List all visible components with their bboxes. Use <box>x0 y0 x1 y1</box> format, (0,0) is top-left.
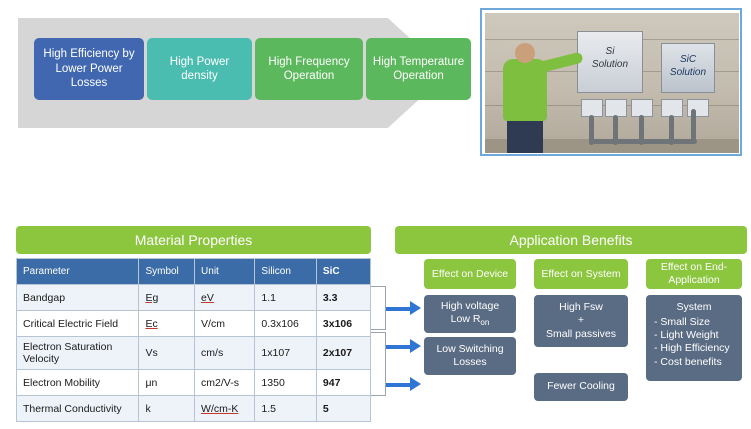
col-symbol: Symbol <box>139 259 195 285</box>
cell-sic: 947 <box>316 370 370 396</box>
material-properties-title: Material Properties <box>135 232 253 248</box>
cell-sic: 3x106 <box>316 311 370 337</box>
cell-parameter: Bandgap <box>17 285 139 311</box>
cell-symbol: Eg <box>145 292 158 304</box>
application-benefits-header: Application Benefits <box>395 226 747 254</box>
cell-parameter: Electron Mobility <box>17 370 139 396</box>
end-box-item: - Small Size <box>654 316 734 329</box>
si-panel-label-line2: Solution <box>578 59 642 71</box>
system-box-line1: High Fsw <box>546 301 616 314</box>
cell-unit: cm/s <box>195 337 255 370</box>
cell-unit: W/cm-K <box>201 403 238 415</box>
col-sic: SiC <box>316 259 370 285</box>
system-box-line2: + <box>546 314 616 327</box>
cell-silicon: 1.5 <box>255 396 316 422</box>
benefits-arrow-band: High Efficiency by Lower Power Losses Hi… <box>0 0 470 160</box>
cell-symbol: Ec <box>145 318 157 330</box>
table-row: Critical Electric Field Ec V/cm 0.3x106 … <box>17 311 371 337</box>
system-box-fewer-cooling: Fewer Cooling <box>534 373 628 401</box>
si-panel-label-line1: Si <box>578 46 642 58</box>
cell-unit: cm2/V-s <box>195 370 255 396</box>
cell-symbol: k <box>139 396 195 422</box>
device-box-line1: Low Switching <box>436 343 503 356</box>
si-inverter-panel: Si Solution <box>577 31 643 93</box>
device-box-subscript: on <box>480 318 489 327</box>
table-row: Electron Mobility μn cm2/V-s 1350 947 <box>17 370 371 396</box>
system-box-high-fsw: High Fsw + Small passives <box>534 295 628 347</box>
benefit-chip-temperature: High Temperature Operation <box>366 38 471 100</box>
installation-photo: Si Solution SiC Solution <box>485 13 739 153</box>
application-benefits-title: Application Benefits <box>510 232 633 248</box>
cell-unit: V/cm <box>195 311 255 337</box>
end-box-item: - High Efficiency <box>654 342 734 355</box>
benefit-chip-label: High Temperature Operation <box>372 55 465 84</box>
col-title-effect-on-end-application: Effect on End-Application <box>646 259 742 289</box>
benefit-chip-efficiency: High Efficiency by Lower Power Losses <box>34 38 144 100</box>
material-properties-header: Material Properties <box>16 226 371 254</box>
end-box-item: - Cost benefits <box>654 356 734 369</box>
cell-sic: 3.3 <box>316 285 370 311</box>
sic-panel-label-line1: SiC <box>662 54 714 66</box>
col-title-effect-on-device: Effect on Device <box>424 259 516 289</box>
device-box-line2: Low R <box>451 313 481 325</box>
cell-sic: 5 <box>316 396 370 422</box>
cell-unit: eV <box>201 292 214 304</box>
table-row: Bandgap Eg eV 1.1 3.3 <box>17 285 371 311</box>
installation-photo-frame: Si Solution SiC Solution <box>480 8 742 156</box>
sic-inverter-panel: SiC Solution <box>661 43 715 93</box>
col-title-label: Effect on System <box>541 268 620 281</box>
table-row: Electron Saturation Velocity Vs cm/s 1x1… <box>17 337 371 370</box>
end-box-title: System <box>654 301 734 314</box>
table-row: Thermal Conductivity k W/cm-K 1.5 5 <box>17 396 371 422</box>
col-title-label: Effect on End-Application <box>650 261 738 286</box>
sic-panel-label-line2: Solution <box>662 67 714 79</box>
bracket-top <box>371 286 386 330</box>
col-silicon: Silicon <box>255 259 316 285</box>
end-box-item: - Light Weight <box>654 329 734 342</box>
benefit-chip-label: High Efficiency by Lower Power Losses <box>40 47 138 90</box>
bracket-bottom <box>371 332 386 396</box>
worker-head <box>515 43 535 63</box>
cell-silicon: 1350 <box>255 370 316 396</box>
benefit-chip-label: High Power density <box>153 55 246 84</box>
benefit-chip-power-density: High Power density <box>147 38 252 100</box>
system-box-label: Fewer Cooling <box>547 380 615 393</box>
benefit-chip-label: High Frequency Operation <box>261 55 357 84</box>
worker-legs <box>507 117 543 153</box>
col-title-label: Effect on Device <box>432 268 508 281</box>
device-box-low-switching-losses: Low Switching Losses <box>424 337 516 375</box>
device-box-high-voltage: High voltage Low Ron <box>424 295 516 333</box>
benefit-chip-frequency: High Frequency Operation <box>255 38 363 100</box>
cell-parameter: Electron Saturation Velocity <box>17 337 139 370</box>
cell-silicon: 1.1 <box>255 285 316 311</box>
device-box-line2: Losses <box>436 356 503 369</box>
cell-symbol: μn <box>139 370 195 396</box>
material-properties-table: Parameter Symbol Unit Silicon SiC Bandga… <box>16 258 371 422</box>
system-box-line3: Small passives <box>546 328 616 341</box>
cell-symbol: Vs <box>139 337 195 370</box>
col-parameter: Parameter <box>17 259 139 285</box>
cell-sic: 2x107 <box>316 337 370 370</box>
col-unit: Unit <box>195 259 255 285</box>
table-header-row: Parameter Symbol Unit Silicon SiC <box>17 259 371 285</box>
cell-silicon: 0.3x106 <box>255 311 316 337</box>
device-box-line1: High voltage <box>441 300 499 313</box>
end-application-box: System - Small Size - Light Weight - Hig… <box>646 295 742 381</box>
cell-parameter: Thermal Conductivity <box>17 396 139 422</box>
cell-parameter: Critical Electric Field <box>17 311 139 337</box>
col-title-effect-on-system: Effect on System <box>534 259 628 289</box>
cell-silicon: 1x107 <box>255 337 316 370</box>
